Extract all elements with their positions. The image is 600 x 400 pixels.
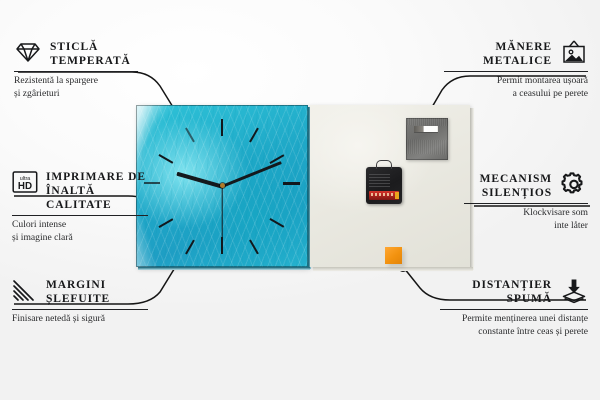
clock-hub — [220, 183, 225, 188]
metal-hanger — [406, 118, 448, 160]
second-hand — [221, 187, 222, 249]
back-edge-bottom — [313, 267, 473, 271]
ultra-hd-icon-bottom-label: HD — [18, 181, 32, 192]
callout-manere-metalice: MĂNERE METALICE Permit montarea ușoară a… — [444, 40, 588, 100]
callout-subtitle: Rezistentă la spargere și zgârieturi — [14, 75, 154, 100]
minute-hand — [221, 161, 282, 188]
callout-subtitle: Finisare netedă și sigură — [12, 313, 162, 325]
clock-back-panel — [310, 105, 470, 267]
callout-imprimare-hd: ultra HD IMPRIMARE DE ÎNALTĂ CALITATE Cu… — [12, 170, 162, 244]
hour-marker — [185, 240, 194, 255]
callout-subtitle: Permite menținerea unei distanțe constan… — [440, 313, 588, 338]
callout-subtitle: Klockvisare som inte låter — [464, 207, 588, 232]
hour-marker — [269, 218, 284, 227]
callout-title: IMPRIMARE DE ÎNALTĂ CALITATE — [46, 170, 162, 212]
clock-mechanism — [366, 167, 402, 204]
callout-title: DISTANȚIER SPUMĂ — [472, 278, 552, 306]
callout-sticla-temperata: STICLĂ TEMPERATĂ Rezistentă la spargere … — [14, 40, 154, 100]
callout-rule — [464, 203, 588, 204]
arrow-down-stack-icon — [560, 278, 588, 304]
callout-subtitle: Culori intense și imagine clară — [12, 219, 162, 244]
callout-rule — [440, 309, 588, 310]
foam-spacer — [385, 247, 402, 264]
gear-icon — [560, 172, 588, 198]
infographic-stage: STICLĂ TEMPERATĂ Rezistentă la spargere … — [0, 0, 600, 400]
hour-marker — [185, 128, 194, 143]
callout-rule — [14, 71, 138, 72]
callout-distantier-spuma: DISTANȚIER SPUMĂ Permite menținerea unei… — [440, 278, 588, 338]
callout-rule — [444, 71, 588, 72]
hour-marker — [249, 240, 258, 255]
callout-mecanism-silentios: MECANISM SILENȚIOS Klockvisare som inte … — [464, 172, 588, 232]
hour-hand — [176, 172, 222, 188]
callout-margini-slefuite: MARGINI ȘLEFUITE Finisare netedă și sigu… — [12, 278, 162, 326]
mechanism-grill — [369, 172, 390, 187]
picture-hanger-icon — [560, 40, 588, 64]
battery-label — [371, 193, 393, 196]
glass-edge-bottom — [138, 267, 310, 270]
beveled-edge-icon — [12, 278, 38, 302]
callout-rule — [12, 215, 148, 216]
hour-marker — [221, 119, 223, 136]
hour-marker — [158, 154, 173, 163]
hanger-loop — [376, 160, 392, 169]
hour-marker — [283, 182, 300, 185]
callout-title: MECANISM SILENȚIOS — [480, 172, 552, 200]
hanger-slot — [414, 126, 438, 132]
callout-title: MĂNERE METALICE — [483, 40, 552, 68]
callout-subtitle: Permit montarea ușoară a ceasului pe per… — [444, 75, 588, 100]
callout-title: MARGINI ȘLEFUITE — [46, 278, 110, 306]
battery — [369, 191, 399, 200]
callout-title: STICLĂ TEMPERATĂ — [50, 40, 131, 68]
hour-marker — [249, 128, 258, 143]
ultra-hd-icon: ultra HD — [12, 170, 38, 194]
callout-rule — [12, 309, 148, 310]
diamond-icon — [14, 40, 42, 64]
